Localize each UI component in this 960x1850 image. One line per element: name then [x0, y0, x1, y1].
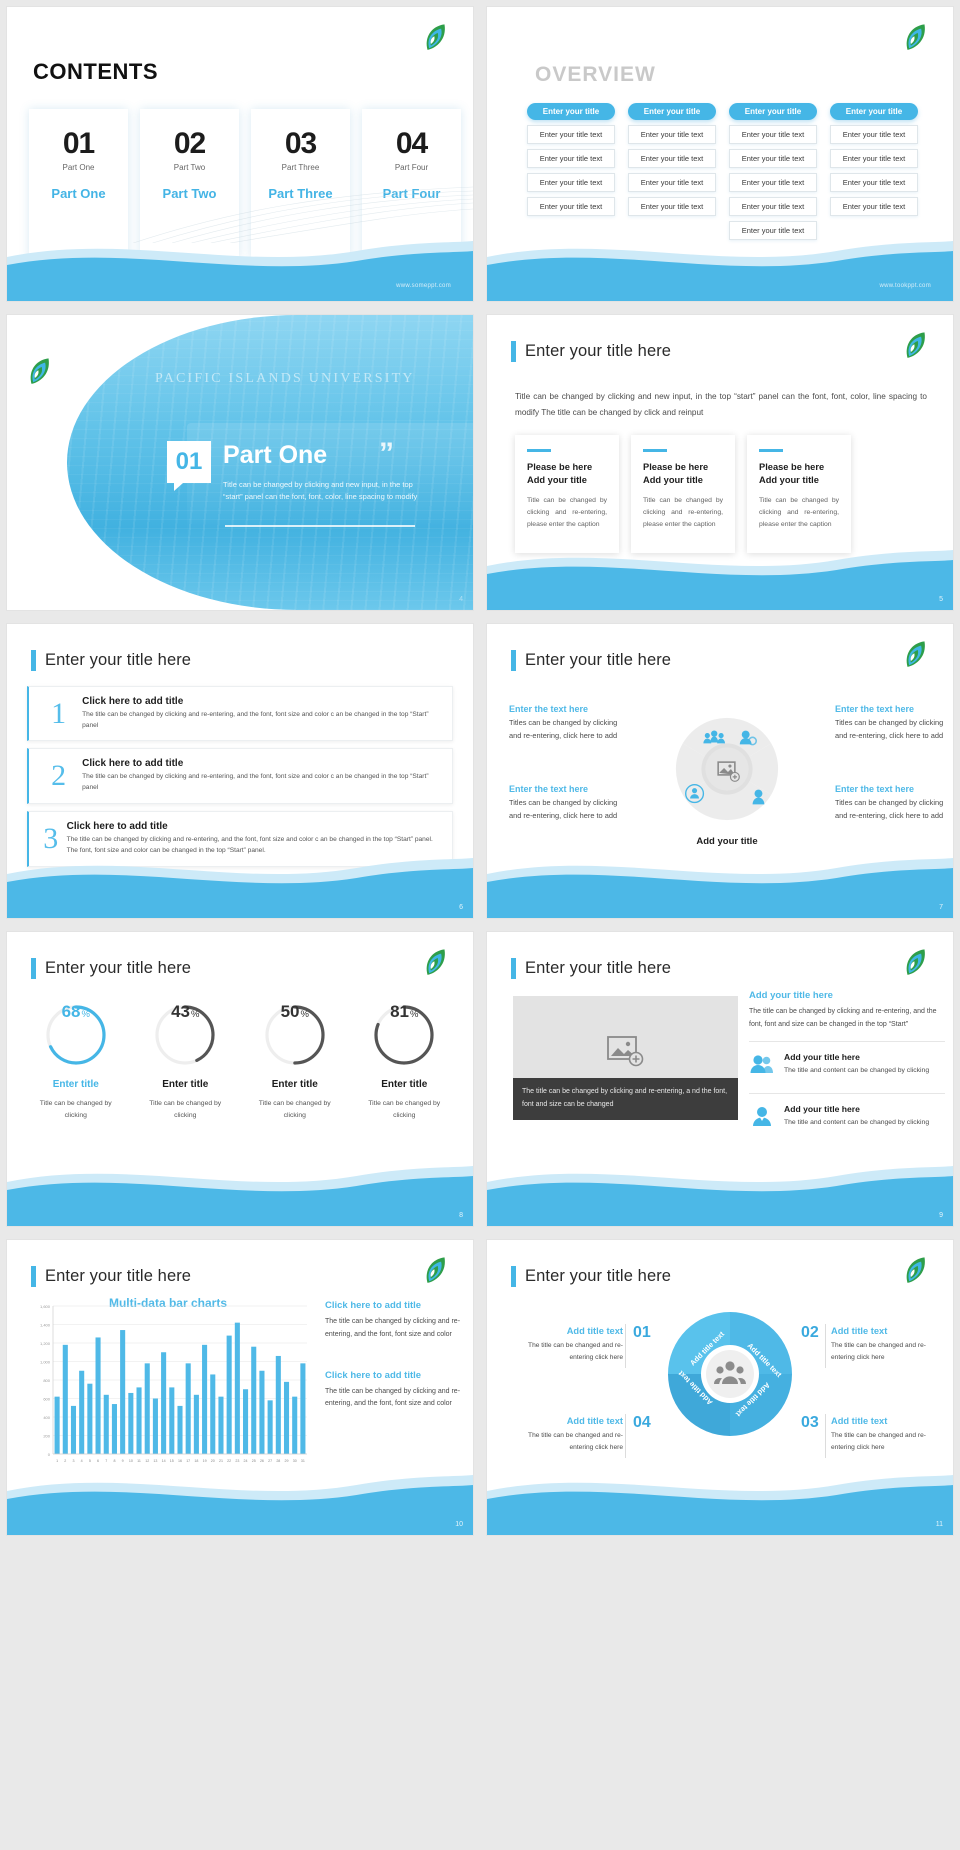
decorative-lines: [7, 183, 473, 243]
title-accent-bar: [31, 1266, 36, 1287]
svg-text:19: 19: [203, 1459, 207, 1463]
label-body: Titles can be changed by clicking and re…: [835, 717, 953, 743]
percent-list: 68% Enter title Title can be changed by …: [21, 1002, 459, 1121]
overview-cell[interactable]: Enter your title text: [830, 197, 918, 216]
brand-logo-icon: [23, 355, 57, 389]
slide-number: 10: [455, 1521, 463, 1528]
page-title: Enter your title here: [525, 1267, 671, 1286]
side-heading: Add your title here: [749, 990, 945, 1001]
progress-ring: 81%: [371, 1002, 437, 1068]
percent-title: Enter title: [162, 1079, 208, 1090]
slide-percent-circles[interactable]: Enter your title here 68% Enter title Ti…: [6, 931, 474, 1227]
percent-body: Title can be changed by clicking: [139, 1098, 231, 1121]
title-accent-bar: [31, 958, 36, 979]
page-title-group: Enter your title here: [511, 341, 671, 362]
overview-cell[interactable]: Enter your title text: [527, 197, 615, 216]
svg-text:16: 16: [178, 1459, 182, 1463]
image-caption: The title can be changed by clicking and…: [513, 1078, 738, 1120]
svg-text:23: 23: [235, 1459, 239, 1463]
overview-column: Enter your title Enter your title text E…: [527, 103, 615, 240]
svg-text:3: 3: [72, 1459, 74, 1463]
svg-text:1,400: 1,400: [40, 1323, 51, 1328]
overview-cell[interactable]: Enter your title text: [527, 149, 615, 168]
page-title-group: Enter your title here: [511, 650, 671, 671]
svg-text:15: 15: [170, 1459, 174, 1463]
progress-ring: 43%: [152, 1002, 218, 1068]
slide-number: 9: [939, 1212, 943, 1219]
item-body: The title can be changed by clicking and…: [82, 710, 440, 732]
side-heading: Click here to add title: [325, 1370, 471, 1381]
percent-body: Title can be changed by clicking: [249, 1098, 341, 1121]
overview-cell[interactable]: Enter your title text: [628, 125, 716, 144]
card-number: 03: [285, 129, 316, 159]
slide-section-part-one[interactable]: PACIFIC ISLANDS UNIVERSITY 01 Part One ”…: [6, 314, 474, 610]
wave-footer: [7, 1148, 473, 1226]
info-card[interactable]: Please be here Add your title Title can …: [747, 435, 851, 553]
card-subtitle: Part Four: [395, 163, 428, 172]
slide-numbered-rows[interactable]: Enter your title here 1 Click here to ad…: [6, 623, 474, 919]
overview-cell[interactable]: Enter your title text: [729, 221, 817, 240]
brand-logo-icon: [899, 1254, 933, 1288]
ring-label-bottom-right[interactable]: Enter the text here Titles can be change…: [835, 784, 953, 823]
percent-value: 68%: [43, 1002, 109, 1068]
page-title: OVERVIEW: [535, 63, 656, 87]
card-heading: Please be here Add your title: [643, 461, 723, 486]
svg-text:26: 26: [260, 1459, 264, 1463]
overview-cell[interactable]: Enter your title text: [527, 173, 615, 192]
column-header-pill[interactable]: Enter your title: [830, 103, 918, 120]
page-title-group: Enter your title here: [511, 1266, 671, 1287]
svg-text:13: 13: [153, 1459, 157, 1463]
svg-text:22: 22: [227, 1459, 231, 1463]
svg-text:21: 21: [219, 1459, 223, 1463]
divider: [625, 1414, 626, 1458]
side-body: The title can be changed by clicking and…: [325, 1386, 471, 1411]
svg-text:25: 25: [252, 1459, 256, 1463]
column-header-pill[interactable]: Enter your title: [628, 103, 716, 120]
overview-cell[interactable]: Enter your title text: [830, 173, 918, 192]
divider: [225, 525, 415, 527]
svg-text:30: 30: [293, 1459, 297, 1463]
svg-text:5: 5: [89, 1459, 91, 1463]
side-panel: Click here to add title The title can be…: [325, 1300, 471, 1410]
item-body: The title and content can be changed by …: [784, 1065, 929, 1077]
list-item[interactable]: 1 Click here to add title The title can …: [27, 686, 453, 742]
divider: [825, 1414, 826, 1458]
title-accent-bar: [511, 1266, 516, 1287]
card-number: 02: [174, 129, 205, 159]
cycle-item-top-right[interactable]: Add title text The title can be changed …: [831, 1326, 941, 1362]
lead-paragraph: Title can be changed by clicking and new…: [515, 389, 927, 420]
users-icon: [749, 1052, 775, 1083]
row-list: 1 Click here to add title The title can …: [27, 686, 453, 867]
svg-text:1: 1: [56, 1459, 58, 1463]
svg-text:31: 31: [301, 1459, 305, 1463]
svg-text:12: 12: [145, 1459, 149, 1463]
card-heading: Please be here Add your title: [759, 461, 839, 486]
card-list: Please be here Add your title Title can …: [515, 435, 851, 553]
svg-text:0: 0: [48, 1452, 51, 1457]
cycle-chart: Add title text Add title text Add title …: [655, 1298, 805, 1468]
percent-body: Title can be changed by clicking: [30, 1098, 122, 1121]
percent-title: Enter title: [53, 1079, 99, 1090]
university-name: PACIFIC ISLANDS UNIVERSITY: [155, 371, 415, 387]
svg-text:800: 800: [43, 1378, 50, 1383]
svg-text:1,200: 1,200: [40, 1341, 51, 1346]
slide-bar-chart[interactable]: Enter your title here Multi-data bar cha…: [6, 1239, 474, 1535]
overview-cell[interactable]: Enter your title text: [628, 197, 716, 216]
svg-text:1,000: 1,000: [40, 1360, 51, 1365]
svg-text:20: 20: [211, 1459, 215, 1463]
slide-ring-diagram[interactable]: Enter your title here Enter the text her…: [486, 623, 954, 919]
bar-chart: 02004006008001,0001,2001,4001,6001234567…: [23, 1296, 313, 1476]
svg-text:28: 28: [276, 1459, 280, 1463]
page-title: Enter your title here: [525, 959, 671, 978]
label-body: Titles can be changed by clicking and re…: [509, 717, 627, 743]
percent-title: Enter title: [381, 1079, 427, 1090]
brand-logo-icon: [899, 329, 933, 363]
image-placeholder-icon: [606, 1034, 646, 1068]
item-number: 2: [35, 761, 82, 791]
slide-number: 7: [939, 904, 943, 911]
item-heading: Add title text: [831, 1416, 941, 1426]
slide-overview[interactable]: OVERVIEW Enter your title Enter your tit…: [486, 6, 954, 302]
brand-logo-icon: [419, 946, 453, 980]
title-accent-bar: [511, 341, 516, 362]
info-card[interactable]: Please be here Add your title Title can …: [631, 435, 735, 553]
watermark: www.someppt.com: [396, 283, 451, 289]
list-item[interactable]: 3 Click here to add title The title can …: [27, 811, 453, 867]
slide-number: 8: [459, 1212, 463, 1219]
percent-body: Title can be changed by clicking: [358, 1098, 450, 1121]
svg-text:200: 200: [43, 1434, 50, 1439]
progress-ring: 68%: [43, 1002, 109, 1068]
svg-text:1,600: 1,600: [40, 1304, 51, 1309]
card-body: Title can be changed by clicking and re-…: [643, 495, 723, 531]
item-body: The title can be changed and re-entering…: [831, 1340, 941, 1362]
percent-item[interactable]: 68% Enter title Title can be changed by …: [21, 1002, 131, 1121]
percent-item[interactable]: 43% Enter title Title can be changed by …: [131, 1002, 241, 1121]
column-header-pill[interactable]: Enter your title: [729, 103, 817, 120]
brand-logo-icon: [419, 21, 453, 55]
page-title: CONTENTS: [33, 59, 158, 85]
divider: [625, 1324, 626, 1368]
svg-text:6: 6: [97, 1459, 99, 1463]
overview-cell[interactable]: Enter your title text: [830, 149, 918, 168]
page-title: Enter your title here: [45, 651, 191, 670]
item-body: The title can be changed and re-entering…: [513, 1340, 623, 1362]
item-body: The title and content can be changed by …: [784, 1117, 929, 1129]
item-number: 1: [35, 699, 82, 729]
card-subtitle: Part Three: [282, 163, 320, 172]
svg-text:24: 24: [244, 1459, 248, 1463]
card-accent-dash: [759, 449, 783, 452]
section-number-badge: 01: [167, 441, 211, 483]
slide-three-cards[interactable]: Enter your title here Title can be chang…: [486, 314, 954, 610]
cycle-number-01: 01: [633, 1324, 651, 1342]
item-heading: Add title text: [513, 1326, 623, 1336]
card-number: 01: [63, 129, 94, 159]
card-accent-dash: [527, 449, 551, 452]
brand-logo-icon: [899, 21, 933, 55]
section-heading: Part One: [223, 441, 327, 470]
wave-footer: [487, 1148, 953, 1226]
item-heading: Click here to add title: [67, 821, 440, 832]
wave-footer: [487, 840, 953, 918]
page-title: Enter your title here: [45, 959, 191, 978]
list-item[interactable]: 2 Click here to add title The title can …: [27, 748, 453, 804]
ring-chart: [668, 710, 786, 828]
label-heading: Enter the text here: [509, 704, 627, 714]
percent-item[interactable]: 50% Enter title Title can be changed by …: [240, 1002, 350, 1121]
item-heading: Add your title here: [784, 1104, 929, 1114]
title-accent-bar: [31, 650, 36, 671]
cycle-number-03: 03: [801, 1414, 819, 1432]
overview-cell[interactable]: Enter your title text: [628, 149, 716, 168]
svg-text:10: 10: [129, 1459, 133, 1463]
svg-text:14: 14: [162, 1459, 166, 1463]
card-number: 04: [396, 129, 427, 159]
page-title: Enter your title here: [45, 1267, 191, 1286]
brand-logo-icon: [899, 638, 933, 672]
item-body: The title can be changed and re-entering…: [831, 1430, 941, 1452]
svg-text:2: 2: [64, 1459, 66, 1463]
side-block[interactable]: Click here to add title The title can be…: [325, 1370, 471, 1411]
overview-column: Enter your title Enter your title text E…: [628, 103, 716, 240]
label-body: Titles can be changed by clicking and re…: [835, 797, 953, 823]
wave-footer: [487, 1457, 953, 1535]
percent-value: 81%: [371, 1002, 437, 1068]
overview-columns: Enter your title Enter your title text E…: [527, 103, 918, 240]
label-heading: Enter the text here: [835, 784, 953, 794]
overview-cell[interactable]: Enter your title text: [830, 125, 918, 144]
overview-cell[interactable]: Enter your title text: [527, 125, 615, 144]
card-body: Title can be changed by clicking and re-…: [759, 495, 839, 531]
slide-number: 5: [939, 596, 943, 603]
info-card[interactable]: Please be here Add your title Title can …: [515, 435, 619, 553]
list-item[interactable]: Add your title here The title and conten…: [749, 1093, 945, 1135]
card-subtitle: Part One: [62, 163, 94, 172]
side-body: The title can be changed by clicking and…: [325, 1316, 471, 1341]
item-body: The title can be changed and re-entering…: [513, 1430, 623, 1452]
card-heading: Please be here Add your title: [527, 461, 607, 486]
label-body: Titles can be changed by clicking and re…: [509, 797, 627, 823]
percent-value: 43%: [152, 1002, 218, 1068]
slide-cycle-diagram[interactable]: Enter your title here: [486, 1239, 954, 1535]
title-accent-bar: [511, 650, 516, 671]
ring-label-bottom-left[interactable]: Enter the text here Titles can be change…: [509, 784, 627, 823]
item-number: 3: [35, 824, 67, 854]
item-heading: Add title text: [513, 1416, 623, 1426]
slide-number: 4: [459, 596, 463, 603]
person-icon: [749, 1104, 775, 1135]
cycle-item-bottom-left[interactable]: Add title text The title can be changed …: [513, 1416, 623, 1452]
overview-cell[interactable]: Enter your title text: [729, 149, 817, 168]
title-accent-bar: [511, 958, 516, 979]
overview-cell[interactable]: Enter your title text: [729, 173, 817, 192]
ring-center-label: Add your title: [668, 836, 786, 847]
slide-grid: CONTENTS 01 Part One Part One 02 Part Tw…: [0, 0, 960, 1850]
side-body: The title can be changed by clicking and…: [749, 1006, 945, 1031]
section-body: Title can be changed by clicking and new…: [223, 479, 423, 502]
slide-image-list[interactable]: Enter your title here The title can be c…: [486, 931, 954, 1227]
svg-text:27: 27: [268, 1459, 272, 1463]
item-heading: Click here to add title: [82, 696, 440, 707]
page-title: Enter your title here: [525, 651, 671, 670]
label-heading: Enter the text here: [835, 704, 953, 714]
svg-text:18: 18: [194, 1459, 198, 1463]
side-heading: Click here to add title: [325, 1300, 471, 1311]
column-header-pill[interactable]: Enter your title: [527, 103, 615, 120]
svg-text:600: 600: [43, 1397, 50, 1402]
item-body: The title can be changed by clicking and…: [82, 772, 440, 794]
svg-text:4: 4: [81, 1459, 83, 1463]
overview-column: Enter your title Enter your title text E…: [830, 103, 918, 240]
overview-cell[interactable]: Enter your title text: [628, 173, 716, 192]
quote-mark-icon: ”: [379, 437, 394, 471]
page-title-group: Enter your title here: [511, 958, 671, 979]
svg-text:7: 7: [105, 1459, 107, 1463]
cycle-number-02: 02: [801, 1324, 819, 1342]
divider: [825, 1324, 826, 1368]
item-heading: Click here to add title: [82, 758, 440, 769]
page-title-group: Enter your title here: [31, 1266, 191, 1287]
page-title: Enter your title here: [525, 342, 671, 361]
watermark: www.tookppt.com: [879, 283, 931, 289]
hero-photo: PACIFIC ISLANDS UNIVERSITY 01 Part One ”…: [67, 315, 473, 609]
list-item[interactable]: Add your title here The title and conten…: [749, 1041, 945, 1083]
item-heading: Add your title here: [784, 1052, 929, 1062]
item-heading: Add title text: [831, 1326, 941, 1336]
card-body: Title can be changed by clicking and re-…: [527, 495, 607, 531]
card-accent-dash: [643, 449, 667, 452]
svg-text:29: 29: [285, 1459, 289, 1463]
percent-value: 50%: [262, 1002, 328, 1068]
slide-number: 11: [936, 1521, 943, 1528]
progress-ring: 50%: [262, 1002, 328, 1068]
overview-cell[interactable]: Enter your title text: [729, 197, 817, 216]
svg-text:9: 9: [122, 1459, 124, 1463]
ring-label-top-left[interactable]: Enter the text here Titles can be change…: [509, 704, 627, 743]
item-body: The title can be changed by clicking and…: [67, 835, 440, 857]
section-number: 01: [176, 448, 203, 476]
percent-title: Enter title: [272, 1079, 318, 1090]
cycle-number-04: 04: [633, 1414, 651, 1432]
svg-text:400: 400: [43, 1415, 50, 1420]
side-panel: Add your title here The title can be cha…: [749, 990, 945, 1135]
overview-column: Enter your title Enter your title text E…: [729, 103, 817, 240]
page-title-group: Enter your title here: [31, 958, 191, 979]
svg-text:17: 17: [186, 1459, 190, 1463]
brand-logo-icon: [899, 946, 933, 980]
cycle-item-top-left[interactable]: Add title text The title can be changed …: [513, 1326, 623, 1362]
side-block[interactable]: Click here to add title The title can be…: [325, 1300, 471, 1341]
slide-number: 6: [459, 904, 463, 911]
brand-logo-icon: [419, 1254, 453, 1288]
percent-item[interactable]: 81% Enter title Title can be changed by …: [350, 1002, 460, 1121]
label-heading: Enter the text here: [509, 784, 627, 794]
overview-cell[interactable]: Enter your title text: [729, 125, 817, 144]
slide-contents[interactable]: CONTENTS 01 Part One Part One 02 Part Tw…: [6, 6, 474, 302]
cycle-item-bottom-right[interactable]: Add title text The title can be changed …: [831, 1416, 941, 1452]
ring-label-top-right[interactable]: Enter the text here Titles can be change…: [835, 704, 953, 743]
svg-text:11: 11: [137, 1459, 141, 1463]
svg-text:8: 8: [113, 1459, 115, 1463]
page-title-group: Enter your title here: [31, 650, 191, 671]
card-subtitle: Part Two: [174, 163, 205, 172]
